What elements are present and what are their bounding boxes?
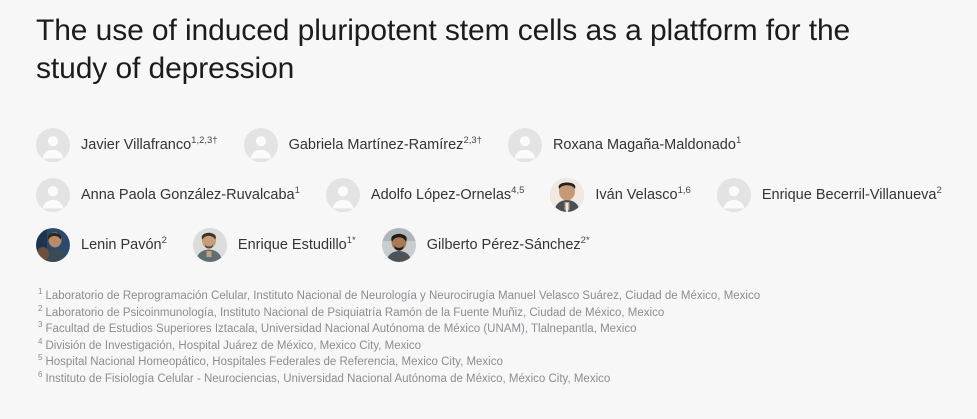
affiliation-item: 3Facultad de Estudios Superiores Iztacal… xyxy=(38,321,941,338)
author-item[interactable]: Anna Paola González-Ruvalcaba1 xyxy=(36,178,300,212)
placeholder-avatar-icon xyxy=(326,178,360,212)
author-photo-avatar xyxy=(36,228,70,262)
placeholder-avatar-icon xyxy=(244,128,278,162)
author-affiliation-sup: 4,5 xyxy=(511,185,524,196)
author-item[interactable]: Enrique Estudillo1* xyxy=(193,228,356,262)
affiliation-number: 3 xyxy=(38,320,42,329)
article-header: The use of induced pluripotent stem cell… xyxy=(0,0,977,419)
affiliation-item: 1Laboratorio de Reprogramación Celular, … xyxy=(38,288,941,305)
author-affiliation-sup: 1* xyxy=(347,235,356,246)
affiliation-text: Hospital Nacional Homeopático, Hospitale… xyxy=(45,356,502,368)
author-affiliation-sup: 1,2,3† xyxy=(191,135,217,146)
affiliation-item: 2Laboratorio de Psicoinmunología, Instit… xyxy=(38,305,941,322)
affiliation-number: 6 xyxy=(38,370,42,379)
affiliation-item: 6Instituto de Fisiología Celular - Neuro… xyxy=(38,371,941,388)
author-item[interactable]: Adolfo López-Ornelas4,5 xyxy=(326,178,524,212)
author-affiliation-sup: 2 xyxy=(162,235,167,246)
author-name: Enrique Becerril-Villanueva2 xyxy=(762,186,942,204)
affiliation-text: División de Investigación, Hospital Juár… xyxy=(45,340,421,352)
author-name: Enrique Estudillo1* xyxy=(238,236,356,254)
affiliation-item: 5Hospital Nacional Homeopático, Hospital… xyxy=(38,354,941,371)
author-affiliation-sup: 1,6 xyxy=(678,185,691,196)
author-affiliation-sup: 2 xyxy=(936,185,941,196)
author-row: Lenin Pavón2 xyxy=(36,220,941,270)
author-item[interactable]: Gabriela Martínez-Ramírez2,3† xyxy=(244,128,482,162)
author-affiliation-sup: 2,3† xyxy=(463,135,482,146)
author-affiliation-sup: 1 xyxy=(736,135,741,146)
author-item[interactable]: Gilberto Pérez-Sánchez2* xyxy=(382,228,590,262)
author-name: Iván Velasco1,6 xyxy=(595,186,690,204)
author-photo-avatar xyxy=(193,228,227,262)
author-item[interactable]: Javier Villafranco1,2,3† xyxy=(36,128,218,162)
placeholder-avatar-icon xyxy=(36,128,70,162)
affiliation-number: 2 xyxy=(38,304,42,313)
affiliation-item: 4División de Investigación, Hospital Juá… xyxy=(38,338,941,355)
author-item[interactable]: Iván Velasco1,6 xyxy=(550,178,690,212)
author-row: Javier Villafranco1,2,3† Gabriela Martín… xyxy=(36,120,941,170)
affiliation-number: 5 xyxy=(38,353,42,362)
author-row: Anna Paola González-Ruvalcaba1 Adolfo Ló… xyxy=(36,170,941,220)
author-photo-avatar xyxy=(382,228,416,262)
author-item[interactable]: Enrique Becerril-Villanueva2 xyxy=(717,178,942,212)
affiliation-list: 1Laboratorio de Reprogramación Celular, … xyxy=(36,288,941,387)
author-name: Anna Paola González-Ruvalcaba1 xyxy=(81,186,300,204)
affiliation-text: Facultad de Estudios Superiores Iztacala… xyxy=(45,323,636,335)
author-name: Roxana Magaña-Maldonado1 xyxy=(553,136,741,154)
author-photo-avatar xyxy=(550,178,584,212)
page-title: The use of induced pluripotent stem cell… xyxy=(36,0,916,88)
author-item[interactable]: Lenin Pavón2 xyxy=(36,228,167,262)
affiliation-text: Laboratorio de Reprogramación Celular, I… xyxy=(45,290,760,302)
affiliation-number: 4 xyxy=(38,337,42,346)
placeholder-avatar-icon xyxy=(508,128,542,162)
author-list: Javier Villafranco1,2,3† Gabriela Martín… xyxy=(36,120,941,270)
author-name: Gilberto Pérez-Sánchez2* xyxy=(427,236,590,254)
author-name: Adolfo López-Ornelas4,5 xyxy=(371,186,524,204)
author-name: Javier Villafranco1,2,3† xyxy=(81,136,218,154)
affiliation-number: 1 xyxy=(38,287,42,296)
author-name: Gabriela Martínez-Ramírez2,3† xyxy=(289,136,482,154)
affiliation-text: Instituto de Fisiología Celular - Neuroc… xyxy=(45,373,610,385)
author-affiliation-sup: 1 xyxy=(295,185,300,196)
affiliation-text: Laboratorio de Psicoinmunología, Institu… xyxy=(45,307,664,319)
author-name: Lenin Pavón2 xyxy=(81,236,167,254)
placeholder-avatar-icon xyxy=(717,178,751,212)
placeholder-avatar-icon xyxy=(36,178,70,212)
author-affiliation-sup: 2* xyxy=(581,235,590,246)
author-item[interactable]: Roxana Magaña-Maldonado1 xyxy=(508,128,741,162)
